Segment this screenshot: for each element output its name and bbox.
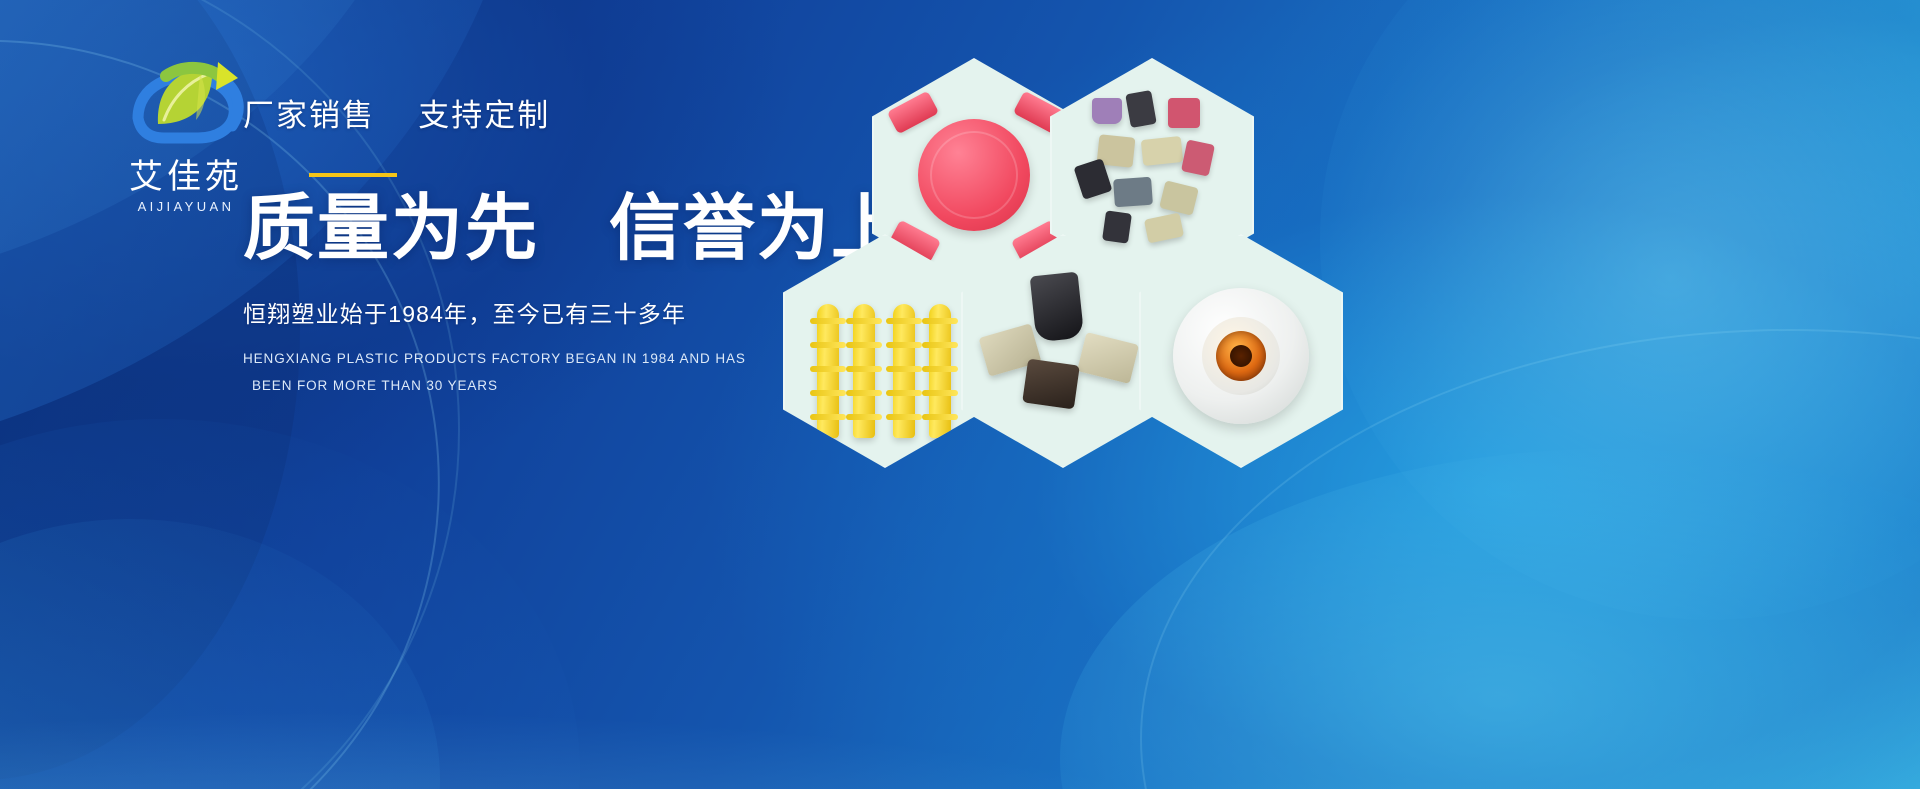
lamp-holder-socket [1216, 331, 1266, 381]
angle-clip-black [1030, 272, 1085, 343]
wall-anchor [853, 304, 875, 438]
clip-khaki [1141, 136, 1183, 166]
clip-black [1102, 210, 1132, 243]
promotional-banner: 艾佳苑 AIJIAYUAN 厂家销售 支持定制 质量为先 信誉为上 恒翔塑业始于… [0, 0, 1920, 789]
clip-khaki [1097, 134, 1136, 168]
junction-box-lug [887, 91, 939, 135]
angle-clip-brown [1022, 359, 1080, 410]
kicker-part-b: 支持定制 [418, 98, 550, 133]
clip-purple [1092, 98, 1122, 124]
background-swoosh-bottom-left-2 [0, 519, 440, 789]
lamp-holder-base [1173, 288, 1309, 424]
clip-gray [1113, 177, 1153, 208]
junction-box-body [918, 119, 1030, 231]
gold-divider [309, 173, 397, 177]
clip-khaki [1144, 213, 1184, 244]
angle-clip-khaki [1077, 332, 1139, 384]
wall-anchor [817, 304, 839, 438]
lamp-holder-ring [1202, 317, 1280, 395]
clip-rose [1168, 98, 1200, 128]
clip-dark-gray [1125, 90, 1157, 128]
product-hex-cluster [800, 40, 1360, 380]
logo-mark [122, 52, 250, 156]
wall-anchor [893, 304, 915, 438]
background-swoosh-bottom-left [0, 419, 580, 789]
description-english-line-1: HENGXIANG PLASTIC PRODUCTS FACTORY BEGAN… [243, 351, 746, 366]
clip-rose [1181, 139, 1215, 176]
angle-clip-khaki [979, 323, 1042, 376]
wall-anchor [929, 304, 951, 438]
background-glow-right [1320, 0, 1920, 620]
lamp-holder-aperture [1230, 345, 1252, 367]
headline-part-a: 质量为先 [243, 189, 539, 269]
clip-black [1073, 158, 1112, 200]
background-curve-bottom [0, 489, 1920, 789]
background-glow-bottom-right [1060, 449, 1920, 789]
clip-khaki [1159, 180, 1199, 215]
logo-arrow-icon [122, 56, 250, 126]
kicker-part-a: 厂家销售 [243, 98, 375, 133]
